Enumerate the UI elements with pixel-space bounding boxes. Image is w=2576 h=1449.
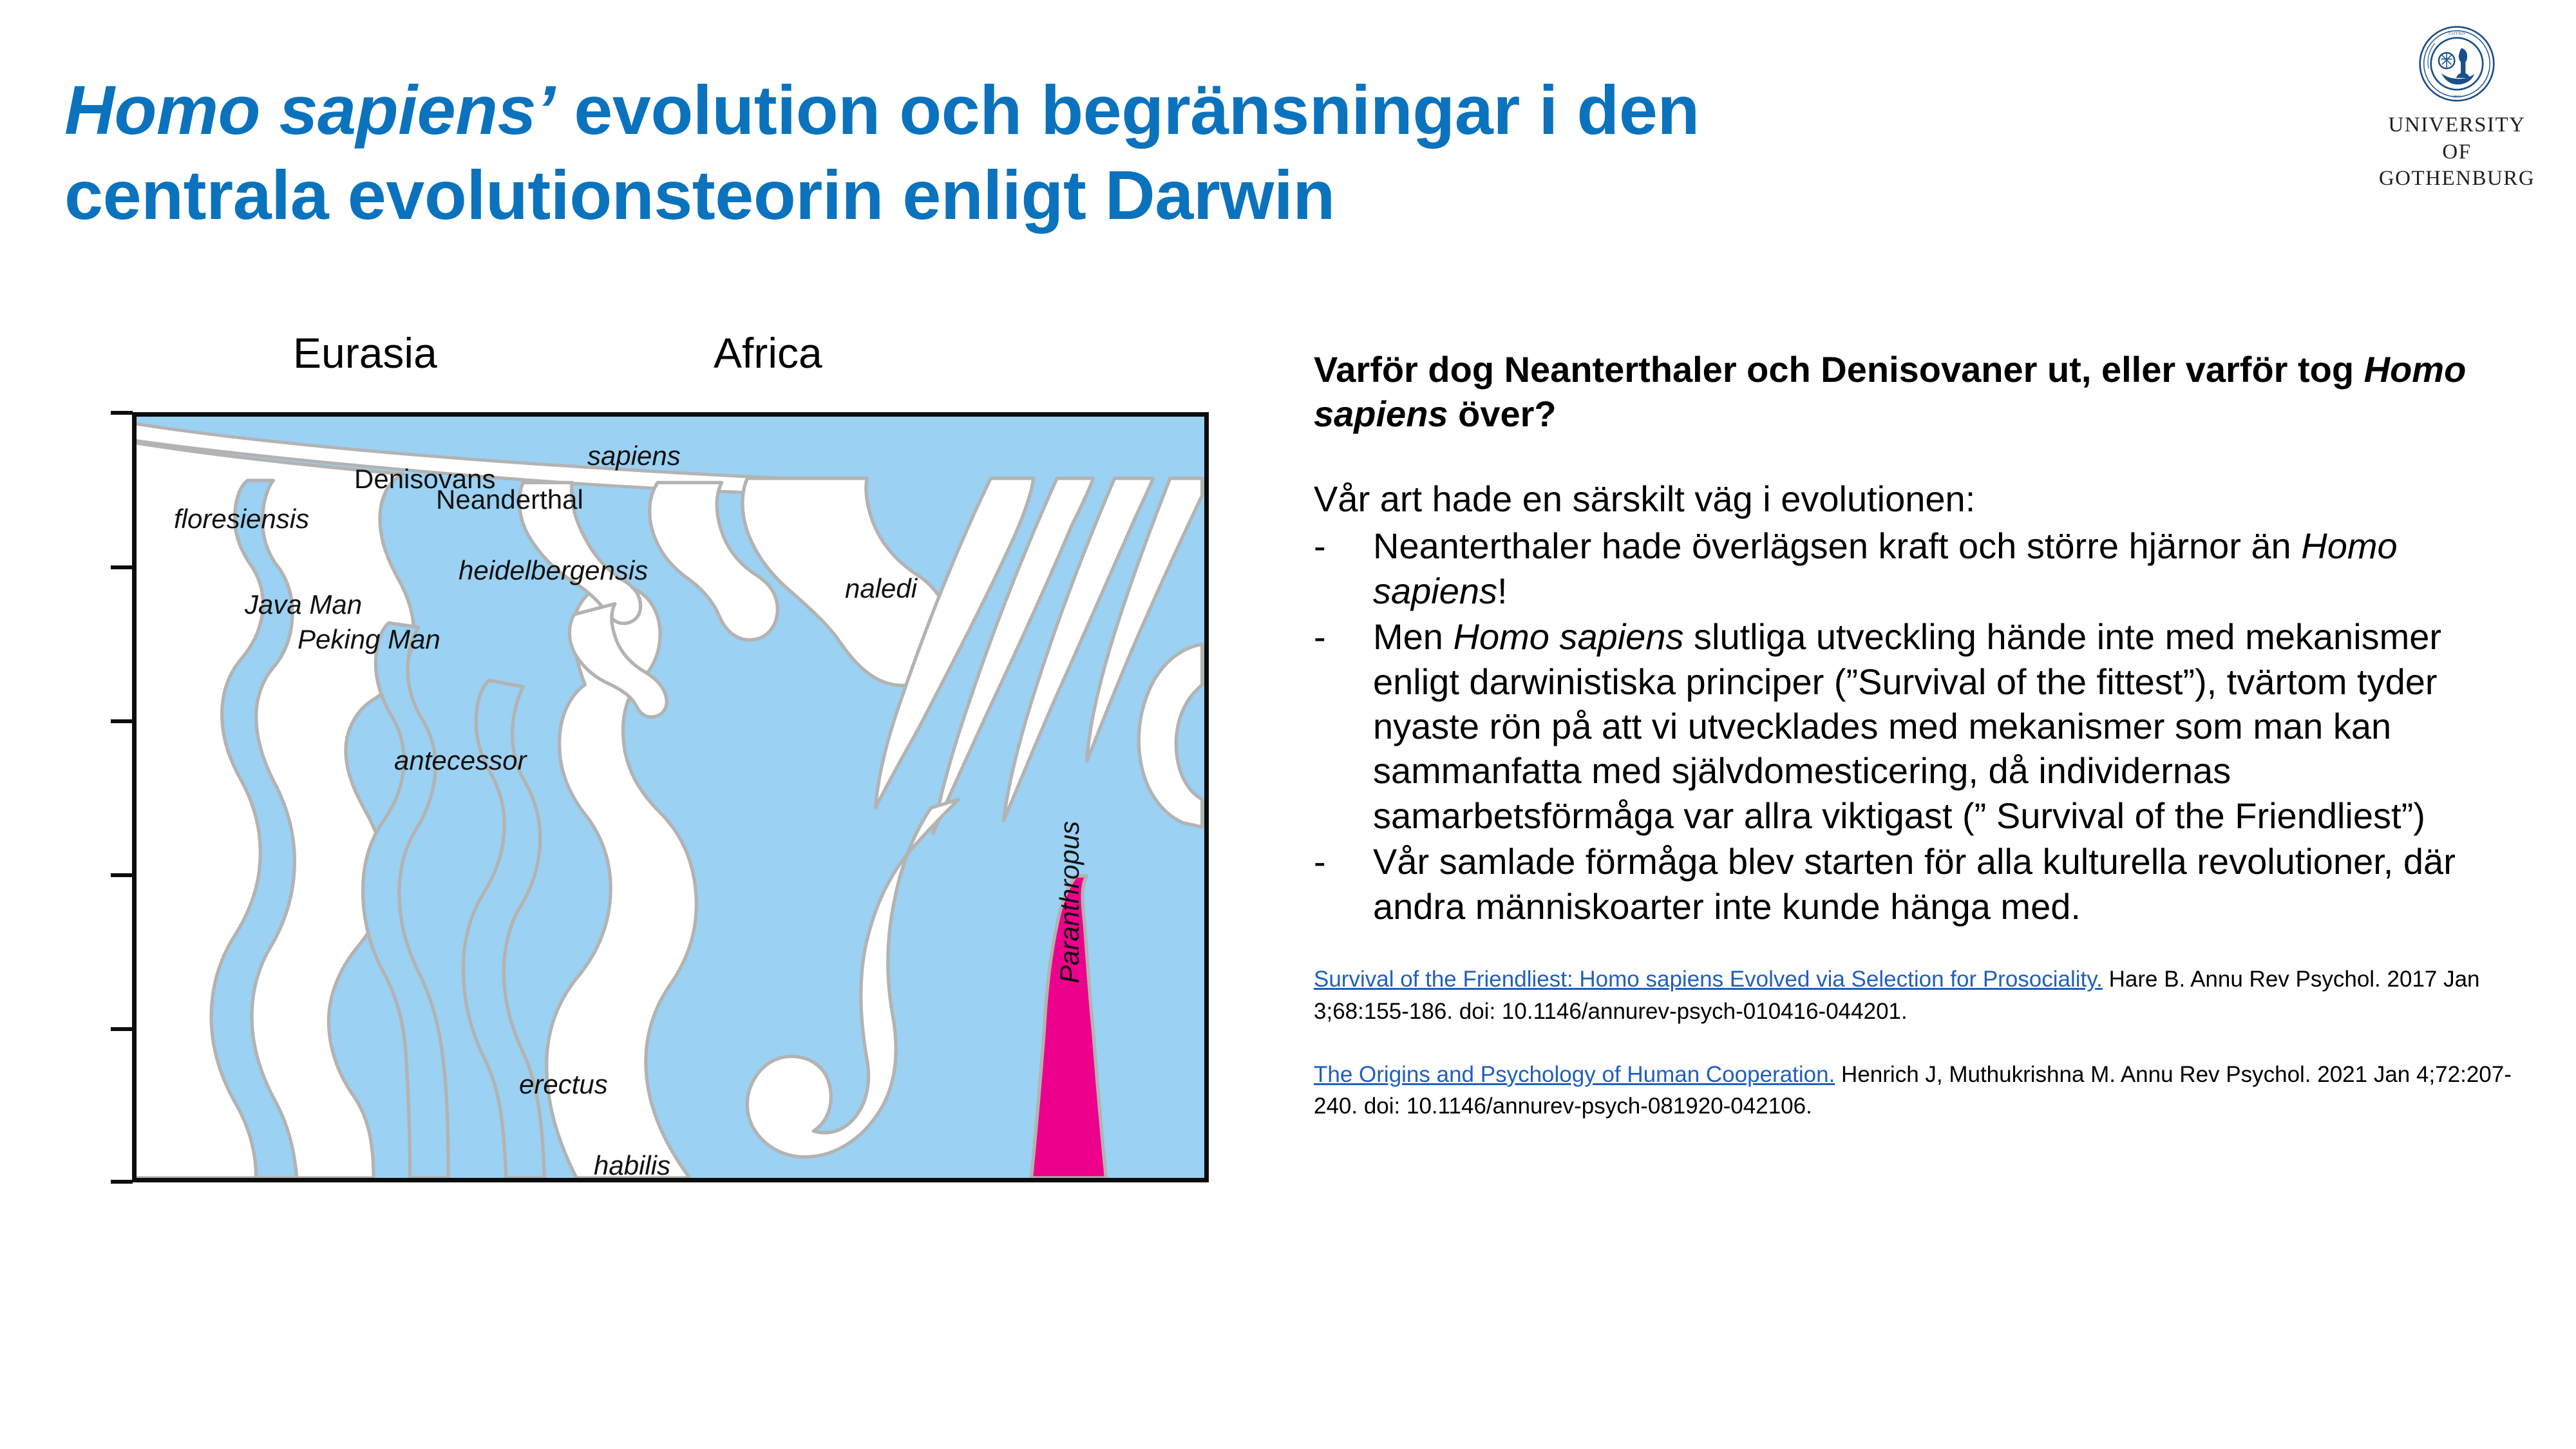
species-label-peking-man: Peking Man [298, 624, 440, 655]
bullet-seg1: Men [1373, 616, 1454, 657]
bullet-marker: - [1314, 524, 1352, 568]
lead-part2: över? [1448, 393, 1557, 434]
page-title-line1-rest: evolution och begränsningar i den [555, 71, 1700, 149]
bullet-seg2: ! [1497, 571, 1508, 611]
list-item: -Vår samlade förmåga blev starten för al… [1314, 839, 2518, 929]
species-label-java-man: Java Man [245, 589, 362, 620]
page-title-italic-part: Homo sapiens’ [64, 71, 555, 149]
list-item: -Neanterthaler hade överlägsen kraft och… [1314, 524, 2518, 613]
bullet-seg1: Neanterthaler hade överlägsen kraft och … [1373, 526, 2301, 566]
region-label-eurasia: Eurasia [293, 328, 437, 377]
lead-question: Varför dog Neanterthaler och Denisovaner… [1314, 348, 2518, 437]
university-logo: GOTHO 1891 UNIVERSITY OF GOTHENBURG [2376, 24, 2537, 193]
svg-text:GOTHO: GOTHO [2448, 32, 2465, 36]
bullet-list: -Neanterthaler hade överlägsen kraft och… [1314, 524, 2518, 929]
logo-org-line2: GOTHENBURG [2376, 166, 2537, 193]
y-tick-mark-0.8 [111, 719, 133, 723]
species-label-antecessor: antecessor [394, 745, 526, 776]
content-column: Varför dog Neanterthaler och Denisovaner… [1314, 348, 2518, 1153]
reference-item: Survival of the Friendliest: Homo sapien… [1314, 963, 2518, 1027]
y-tick-mark-1.6 [111, 1027, 133, 1031]
bullet-italic: Homo sapiens [1454, 616, 1684, 657]
species-label-naledi: naledi [845, 573, 917, 604]
chart-region-labels: Eurasia Africa [39, 328, 1262, 386]
list-item: -Men Homo sapiens slutliga utveckling hä… [1314, 614, 2518, 838]
y-tick-mark-0.4 [111, 565, 133, 569]
svg-text:1891: 1891 [2452, 94, 2461, 99]
species-label-paranthropus: Paranthropus [1054, 821, 1085, 983]
logo-org-line1: UNIVERSITY OF [2376, 112, 2537, 166]
page-title: Homo sapiens’ evolution och begränsninga… [64, 68, 2202, 238]
species-label-sapiens: sapiens [587, 440, 681, 471]
hominin-evolution-chart: Eurasia Africa 0 0.4 0.8 1.2 1.6 2.0 [39, 328, 1262, 1204]
species-label-erectus: erectus [519, 1069, 608, 1100]
lead-part1: Varför dog Neanterthaler och Denisovaner… [1314, 349, 2364, 390]
bullet-marker: - [1314, 839, 1352, 884]
bullet-marker: - [1314, 614, 1352, 659]
species-label-heidelbergensis: heidelbergensis [459, 555, 648, 586]
region-label-africa: Africa [714, 328, 822, 377]
page-title-line2: centrala evolutionsteorin enligt Darwin [64, 156, 1335, 234]
chart-plot-area: floresiensis Java Man Peking Man Denisov… [132, 412, 1209, 1182]
intro-line: Vår art hade en särskilt väg i evolution… [1314, 477, 2518, 521]
species-label-habilis: habilis [594, 1150, 670, 1181]
university-seal-icon: GOTHO 1891 [2418, 24, 2496, 103]
references-list: Survival of the Friendliest: Homo sapien… [1314, 963, 2518, 1122]
species-label-floresiensis: floresiensis [174, 504, 309, 535]
y-tick-mark-2.0 [111, 1180, 133, 1184]
reference-item: The Origins and Psychology of Human Coop… [1314, 1059, 2518, 1122]
species-label-neanderthal: Neanderthal [436, 484, 583, 515]
reference-link[interactable]: Survival of the Friendliest: Homo sapien… [1314, 967, 2103, 992]
reference-link[interactable]: The Origins and Psychology of Human Coop… [1314, 1062, 1835, 1087]
y-tick-mark-1.2 [111, 873, 133, 877]
y-tick-mark-0 [111, 411, 133, 415]
bullet-seg1: Vår samlade förmåga blev starten för all… [1373, 841, 2456, 926]
